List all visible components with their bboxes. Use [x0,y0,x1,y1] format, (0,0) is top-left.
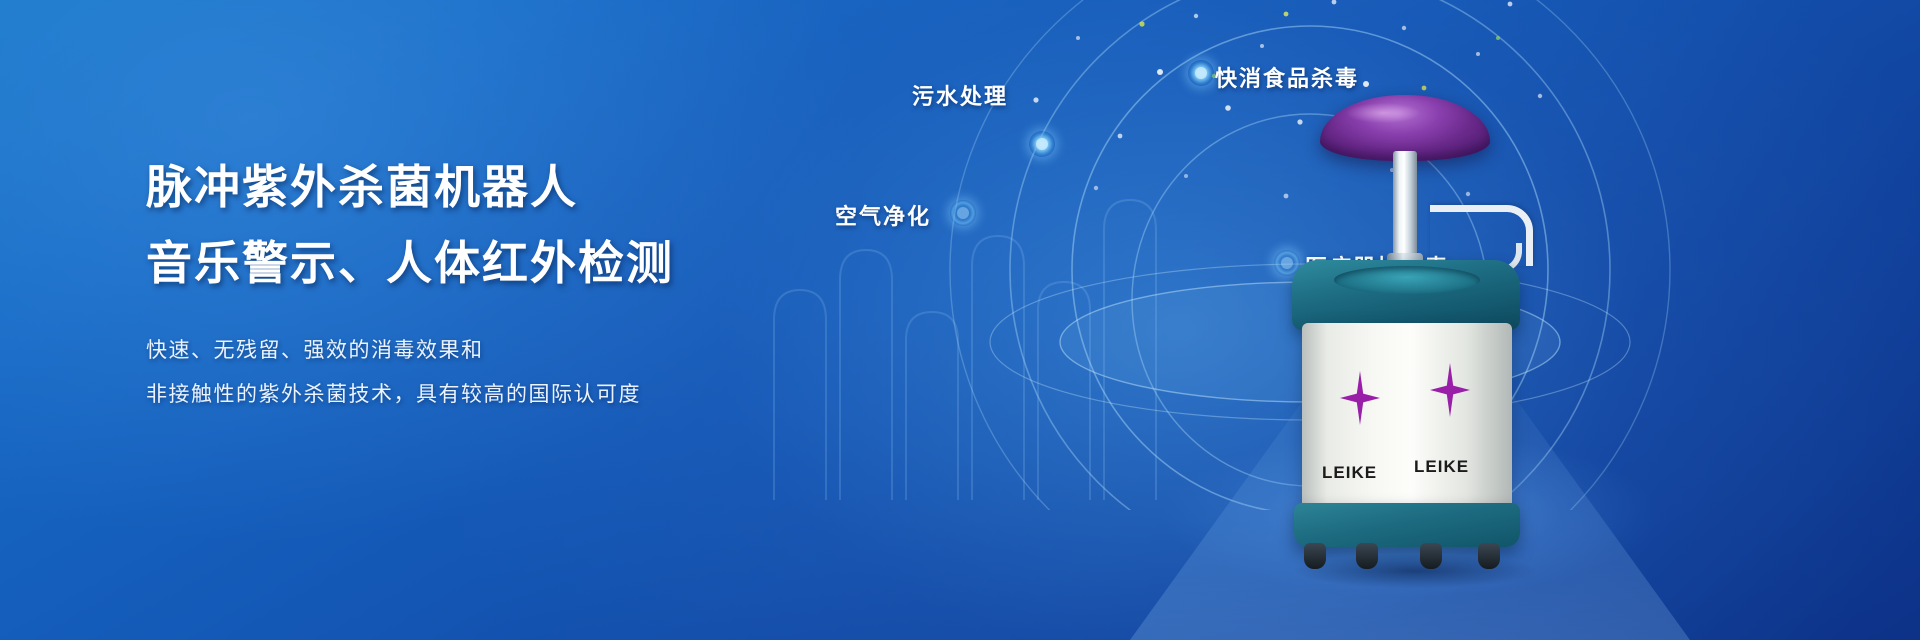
subtext-line-2: 非接触性的紫外杀菌技术，具有较高的国际认可度 [146,372,786,416]
caster-wheel [1356,543,1378,569]
feature-label-wastewater: 污水处理 [912,79,1008,111]
headline-primary: 脉冲紫外杀菌机器人 [146,158,786,216]
caster-wheel [1304,543,1326,569]
feature-marker-food [1188,60,1214,86]
caster-wheel [1478,543,1500,569]
feature-marker-air [950,200,976,226]
headline-secondary: 音乐警示、人体红外检测 [146,234,786,292]
robot-body-panel: LEIKE LEIKE [1302,323,1512,513]
feature-label-food: 快消食品杀毒 [1215,61,1359,93]
feature-marker-wastewater [1029,131,1055,157]
headline-block: 脉冲紫外杀菌机器人 音乐警示、人体红外检测 快速、无残留、强效的消毒效果和 非接… [146,158,786,416]
robot-base [1294,503,1520,547]
robot-top-cap [1292,260,1520,330]
lamp-neck [1393,151,1417,263]
brand-label-left: LEIKE [1322,463,1377,483]
promo-banner: 脉冲紫外杀菌机器人 音乐警示、人体红外检测 快速、无残留、强效的消毒效果和 非接… [0,0,1920,640]
sparkle-star-icon-right [1430,363,1470,417]
brand-label-right: LEIKE [1414,457,1469,477]
feature-label-air: 空气净化 [835,199,931,231]
caster-wheel [1420,543,1442,569]
uv-robot-illustration: LEIKE LEIKE [1280,95,1540,565]
sparkle-star-icon-left [1340,371,1380,425]
subtext-line-1: 快速、无残留、强效的消毒效果和 [146,328,786,372]
